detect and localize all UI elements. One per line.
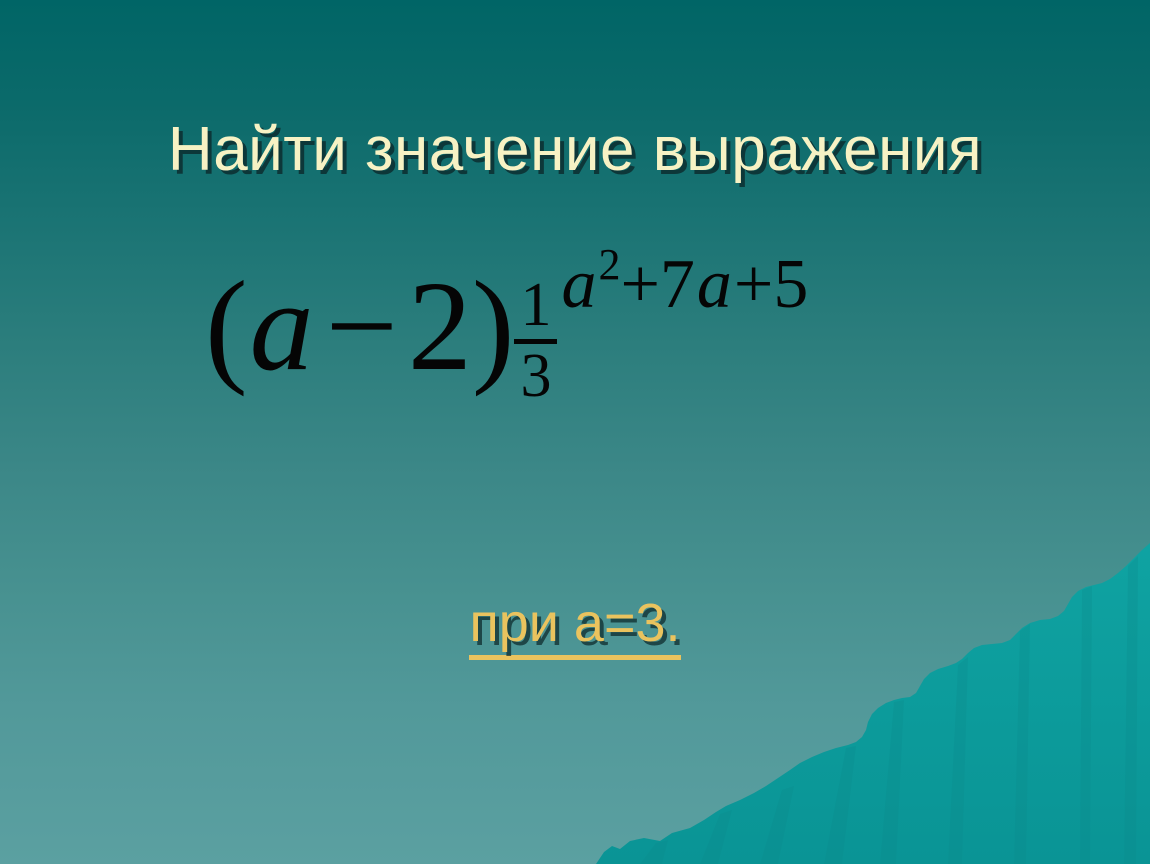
fraction-one-third: 13 xyxy=(514,275,557,407)
condition-line: при a=3. xyxy=(0,592,1150,654)
exponent-term2-coefficient: 7 xyxy=(660,250,695,320)
exponent-expression: 13a2+7a+5 xyxy=(514,250,808,389)
expression-base: (a−2)13a2+7a+5 xyxy=(205,262,808,451)
page-title: Найти значение выражения xyxy=(0,114,1150,185)
exponent-term1-variable: a xyxy=(559,250,598,320)
fraction-denominator: 3 xyxy=(514,346,557,407)
exponent-term3-constant: 5 xyxy=(773,250,808,320)
math-expression: (a−2)13a2+7a+5 xyxy=(205,262,808,451)
exponent-term2-variable: a xyxy=(695,250,734,320)
base-constant: 2 xyxy=(408,262,472,390)
exponent-operator-1: + xyxy=(620,250,659,320)
exponent-operator-2: + xyxy=(734,250,773,320)
open-paren: ( xyxy=(205,262,248,390)
condition-text: при a=3. xyxy=(469,593,680,660)
base-operator: − xyxy=(316,262,408,390)
exponent-term1-power: 2 xyxy=(598,243,620,287)
base-variable: a xyxy=(248,262,316,390)
fraction-numerator: 1 xyxy=(514,275,557,336)
close-paren: ) xyxy=(472,262,515,390)
presentation-slide: Найти значение выражения (a−2)13a2+7a+5 … xyxy=(0,0,1150,864)
